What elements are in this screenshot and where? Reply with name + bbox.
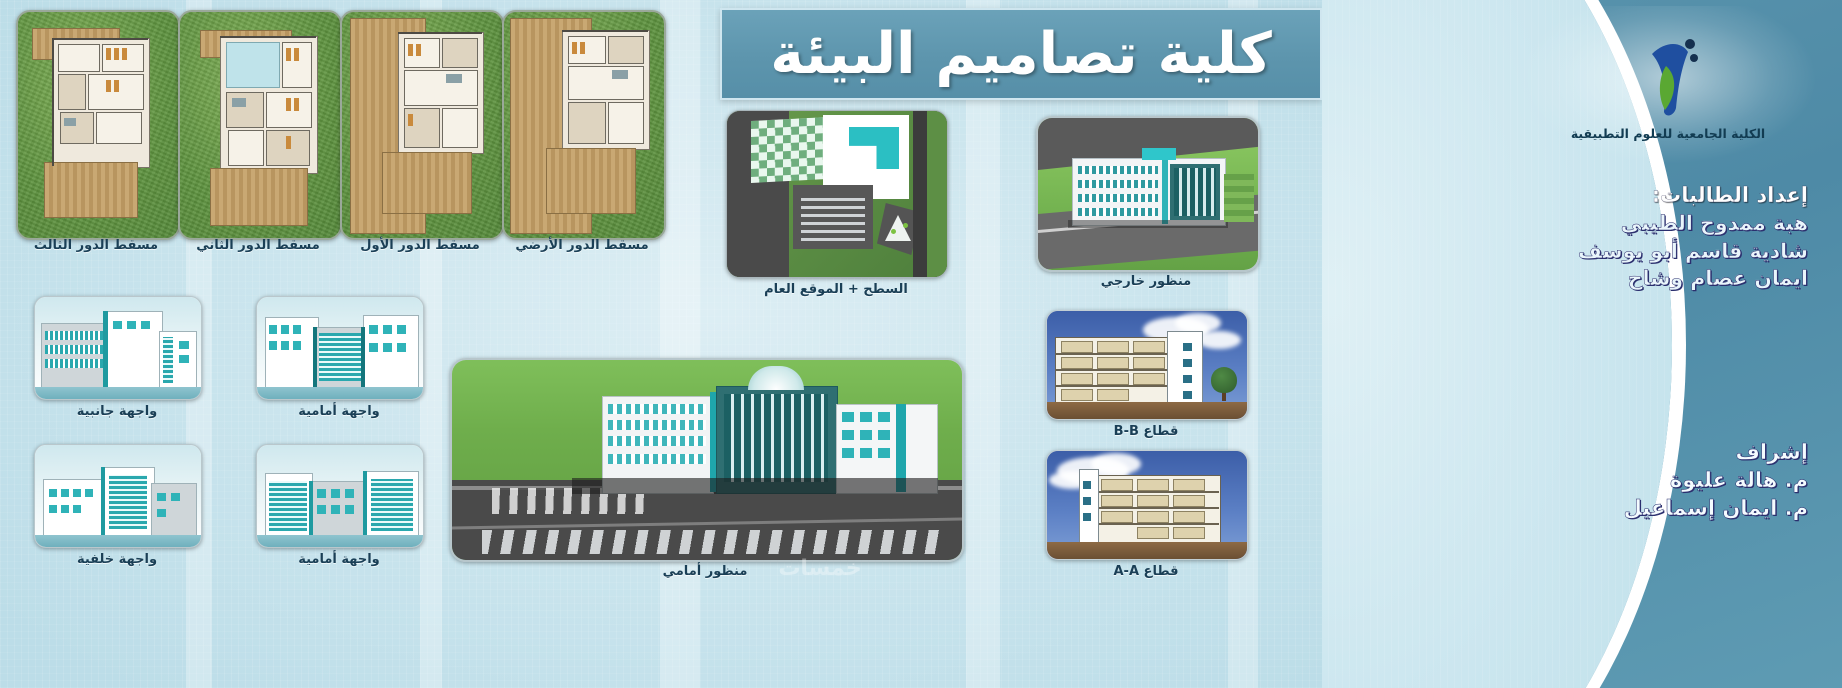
ground-floor-plan-caption: مسقط الدور الأرضي xyxy=(502,238,662,253)
exterior-perspective-caption: منظور خارجي xyxy=(1036,274,1256,289)
furniture xyxy=(114,80,119,92)
window xyxy=(61,505,69,513)
institution-name: الكلية الجامعية للعلوم التطبيقية xyxy=(1571,126,1765,141)
deck-area xyxy=(210,168,308,226)
landscape-strip xyxy=(1224,174,1254,222)
ground-line xyxy=(35,387,201,399)
window xyxy=(73,489,81,497)
wall xyxy=(398,32,482,34)
curtain-wall xyxy=(1174,168,1216,216)
third-floor-plan xyxy=(16,10,180,240)
window xyxy=(281,341,289,350)
window xyxy=(293,325,301,334)
window xyxy=(842,448,854,458)
roof-and-site-plan xyxy=(726,110,948,278)
core-window xyxy=(1183,391,1192,399)
window xyxy=(383,325,392,334)
window xyxy=(73,505,81,513)
furniture xyxy=(286,98,291,111)
presentation-board: كلية تصاميم البيئة الكلية الجامعية للعلو… xyxy=(0,0,1842,688)
exterior-perspective xyxy=(1036,116,1260,272)
window xyxy=(317,505,326,514)
teal-accent xyxy=(309,481,313,535)
window xyxy=(127,321,136,329)
first-floor-plan xyxy=(340,10,504,240)
room xyxy=(96,112,142,144)
section-bay xyxy=(1061,373,1093,385)
furniture xyxy=(286,48,291,61)
section-bay xyxy=(1173,479,1205,491)
building-shadow xyxy=(572,478,938,494)
furniture xyxy=(106,48,111,60)
sidebar: الكلية الجامعية للعلوم التطبيقية إعداد ا… xyxy=(1322,0,1842,688)
teal-accent xyxy=(361,327,365,387)
student-name-1: هبة ممدوح الطيبي xyxy=(1508,210,1808,238)
second-floor-plan-caption: مسقط الدور الثاني xyxy=(178,238,338,253)
student-name-3: ايمان عصام وشاح xyxy=(1508,265,1808,293)
core-window xyxy=(1183,375,1192,383)
window-band xyxy=(1078,180,1158,188)
teal-fin xyxy=(1162,158,1168,224)
ground-soil xyxy=(1047,542,1247,559)
ground-line xyxy=(257,387,423,399)
furniture xyxy=(286,136,291,149)
section-aa-caption: قطاع A-A xyxy=(1046,564,1246,579)
side-elevation-caption: واجهة جانبية xyxy=(34,404,200,419)
second-floor-plan xyxy=(178,10,342,240)
section-bay xyxy=(1173,527,1205,539)
window xyxy=(878,412,890,422)
floor-line xyxy=(1093,491,1219,493)
roof-louvers xyxy=(801,193,865,241)
window xyxy=(269,341,277,350)
window xyxy=(397,343,406,352)
room xyxy=(60,112,94,144)
roof-pattern xyxy=(751,117,827,183)
rear-elevation xyxy=(34,444,202,548)
window-band xyxy=(608,420,706,430)
glazing-band xyxy=(45,331,103,340)
supervisor-name-1: م. هالة عليوة xyxy=(1508,466,1808,494)
window-band xyxy=(608,436,706,446)
section-bay xyxy=(1137,479,1169,491)
window xyxy=(113,321,122,329)
cloud xyxy=(1197,331,1241,349)
section-bay xyxy=(1061,357,1093,369)
section-bay xyxy=(1137,495,1169,507)
section-bay xyxy=(1097,341,1129,353)
deck-area xyxy=(44,162,138,218)
window xyxy=(878,430,890,440)
front-elevation xyxy=(256,296,424,400)
section-bay xyxy=(1137,511,1169,523)
window xyxy=(157,493,166,501)
window-band xyxy=(608,404,706,414)
site-road-edge xyxy=(913,111,927,277)
window xyxy=(842,430,854,440)
board-title-banner: كلية تصاميم البيئة xyxy=(720,8,1322,100)
furniture xyxy=(232,98,246,107)
section-bay xyxy=(1101,479,1133,491)
section-bay xyxy=(1137,527,1169,539)
core-window xyxy=(1183,359,1192,367)
core-window xyxy=(1083,497,1091,505)
supervisor-name-2: م. ايمان إسماعيل xyxy=(1508,494,1808,522)
site-marker xyxy=(891,229,896,234)
furniture xyxy=(294,98,299,111)
window xyxy=(293,341,301,350)
ground-floor-plan xyxy=(502,10,666,240)
window xyxy=(331,505,340,514)
furniture xyxy=(122,48,127,60)
institution-logo-block: الكلية الجامعية للعلوم التطبيقية xyxy=(1518,6,1818,166)
window xyxy=(331,489,340,498)
cloud xyxy=(1175,313,1221,333)
furniture xyxy=(612,70,628,79)
room xyxy=(442,108,478,148)
section-bay xyxy=(1133,373,1165,385)
third-floor-plan-caption: مسقط الدور الثالث xyxy=(16,238,176,253)
steps xyxy=(482,530,942,554)
students-block: إعداد الطالبات: هبة ممدوح الطيبي شادية ق… xyxy=(1508,182,1808,293)
teal-accent xyxy=(313,327,317,387)
window xyxy=(369,343,378,352)
teal-accent xyxy=(363,471,367,535)
section-bay xyxy=(1133,341,1165,353)
wall xyxy=(562,30,648,32)
core-window xyxy=(1083,481,1091,489)
window xyxy=(281,325,289,334)
window xyxy=(383,343,392,352)
section-bay xyxy=(1061,341,1093,353)
ground-line xyxy=(257,535,423,547)
glazing-band xyxy=(371,479,413,531)
window-band xyxy=(1078,208,1158,216)
window xyxy=(49,505,57,513)
glazing-band xyxy=(45,359,103,368)
room xyxy=(608,36,644,64)
wall xyxy=(52,38,148,40)
section-bay xyxy=(1173,511,1205,523)
background-wash-4 xyxy=(966,0,1000,688)
deck-area xyxy=(382,152,472,214)
window-band xyxy=(1078,194,1158,202)
window xyxy=(269,325,277,334)
glazing-band xyxy=(109,475,147,529)
wall xyxy=(52,38,54,166)
teal-accent xyxy=(101,467,105,535)
front-perspective-caption: منظور أمامي xyxy=(450,564,960,579)
side-elevation xyxy=(34,296,202,400)
section-bb-caption: قطاع B-B xyxy=(1046,424,1246,439)
curtain-wall xyxy=(724,394,828,482)
site-marker xyxy=(903,223,908,228)
furniture xyxy=(580,42,585,54)
window xyxy=(860,412,872,422)
ground-soil xyxy=(1047,402,1247,419)
page-title: كلية تصاميم البيئة xyxy=(770,21,1271,87)
floor-line xyxy=(1093,507,1219,509)
window xyxy=(141,321,150,329)
student-name-2: شادية قاسم أبو يوسف xyxy=(1508,238,1808,266)
university-college-logo-icon xyxy=(1632,32,1704,120)
deck-area xyxy=(546,148,636,214)
window xyxy=(345,489,354,498)
window xyxy=(345,505,354,514)
section-bb xyxy=(1046,310,1248,420)
room xyxy=(608,102,644,144)
students-heading: إعداد الطالبات: xyxy=(1508,182,1808,210)
floor-line xyxy=(1093,523,1219,525)
section-bay xyxy=(1101,511,1133,523)
core-window xyxy=(1083,513,1091,521)
roof-accent xyxy=(1142,148,1176,160)
window xyxy=(842,412,854,422)
section-bay xyxy=(1101,495,1133,507)
furniture xyxy=(408,44,413,56)
room xyxy=(58,74,86,110)
window xyxy=(860,430,872,440)
section-bay xyxy=(1173,495,1205,507)
section-bay xyxy=(1133,357,1165,369)
courtyard xyxy=(226,42,280,88)
front-elevation-2 xyxy=(256,444,424,548)
roof-and-site-plan-caption: السطح + الموقع العام xyxy=(726,282,946,297)
section-bay xyxy=(1097,373,1129,385)
ground-line xyxy=(35,535,201,547)
room xyxy=(404,70,478,106)
building-shadow xyxy=(1068,220,1228,228)
furniture xyxy=(294,48,299,61)
room xyxy=(568,66,644,100)
glazing-band xyxy=(45,345,103,354)
section-bay xyxy=(1097,357,1129,369)
window xyxy=(878,448,890,458)
window xyxy=(397,325,406,334)
background-wash-3 xyxy=(660,0,700,688)
room xyxy=(568,102,606,144)
glazing-band xyxy=(319,333,361,381)
supervision-block: إشراف م. هالة عليوة م. ايمان إسماعيل xyxy=(1508,438,1808,522)
furniture xyxy=(106,80,111,92)
room xyxy=(442,38,478,68)
furniture xyxy=(572,42,577,54)
window xyxy=(171,493,180,501)
glazing-band xyxy=(269,481,307,531)
furniture xyxy=(446,74,462,83)
wall xyxy=(220,36,316,38)
window xyxy=(860,448,872,458)
window-band xyxy=(608,454,706,464)
tree xyxy=(1211,367,1237,393)
front-elevation-2-caption: واجهة أمامية xyxy=(256,552,422,567)
supervision-heading: إشراف xyxy=(1508,438,1808,466)
window xyxy=(317,489,326,498)
glazing-band xyxy=(163,337,173,383)
site-green-strip xyxy=(927,111,947,277)
window xyxy=(369,325,378,334)
window xyxy=(61,489,69,497)
window xyxy=(49,489,57,497)
window xyxy=(179,341,189,349)
window xyxy=(157,509,166,517)
core-window xyxy=(1183,343,1192,351)
furniture xyxy=(114,48,119,60)
front-elevation-caption: واجهة أمامية xyxy=(256,404,422,419)
teal-accent xyxy=(103,311,108,387)
window xyxy=(85,489,93,497)
furniture xyxy=(408,114,413,126)
room xyxy=(58,44,100,72)
room xyxy=(228,130,264,166)
window xyxy=(179,355,189,363)
front-perspective xyxy=(450,358,964,562)
rear-elevation-caption: واجهة خلفية xyxy=(34,552,200,567)
section-bay xyxy=(1061,389,1093,401)
furniture xyxy=(416,44,421,56)
window-band xyxy=(1078,166,1158,174)
section-aa xyxy=(1046,450,1248,560)
furniture xyxy=(64,118,76,126)
first-floor-plan-caption: مسقط الدور الأول xyxy=(340,238,500,253)
section-bay xyxy=(1097,389,1129,401)
